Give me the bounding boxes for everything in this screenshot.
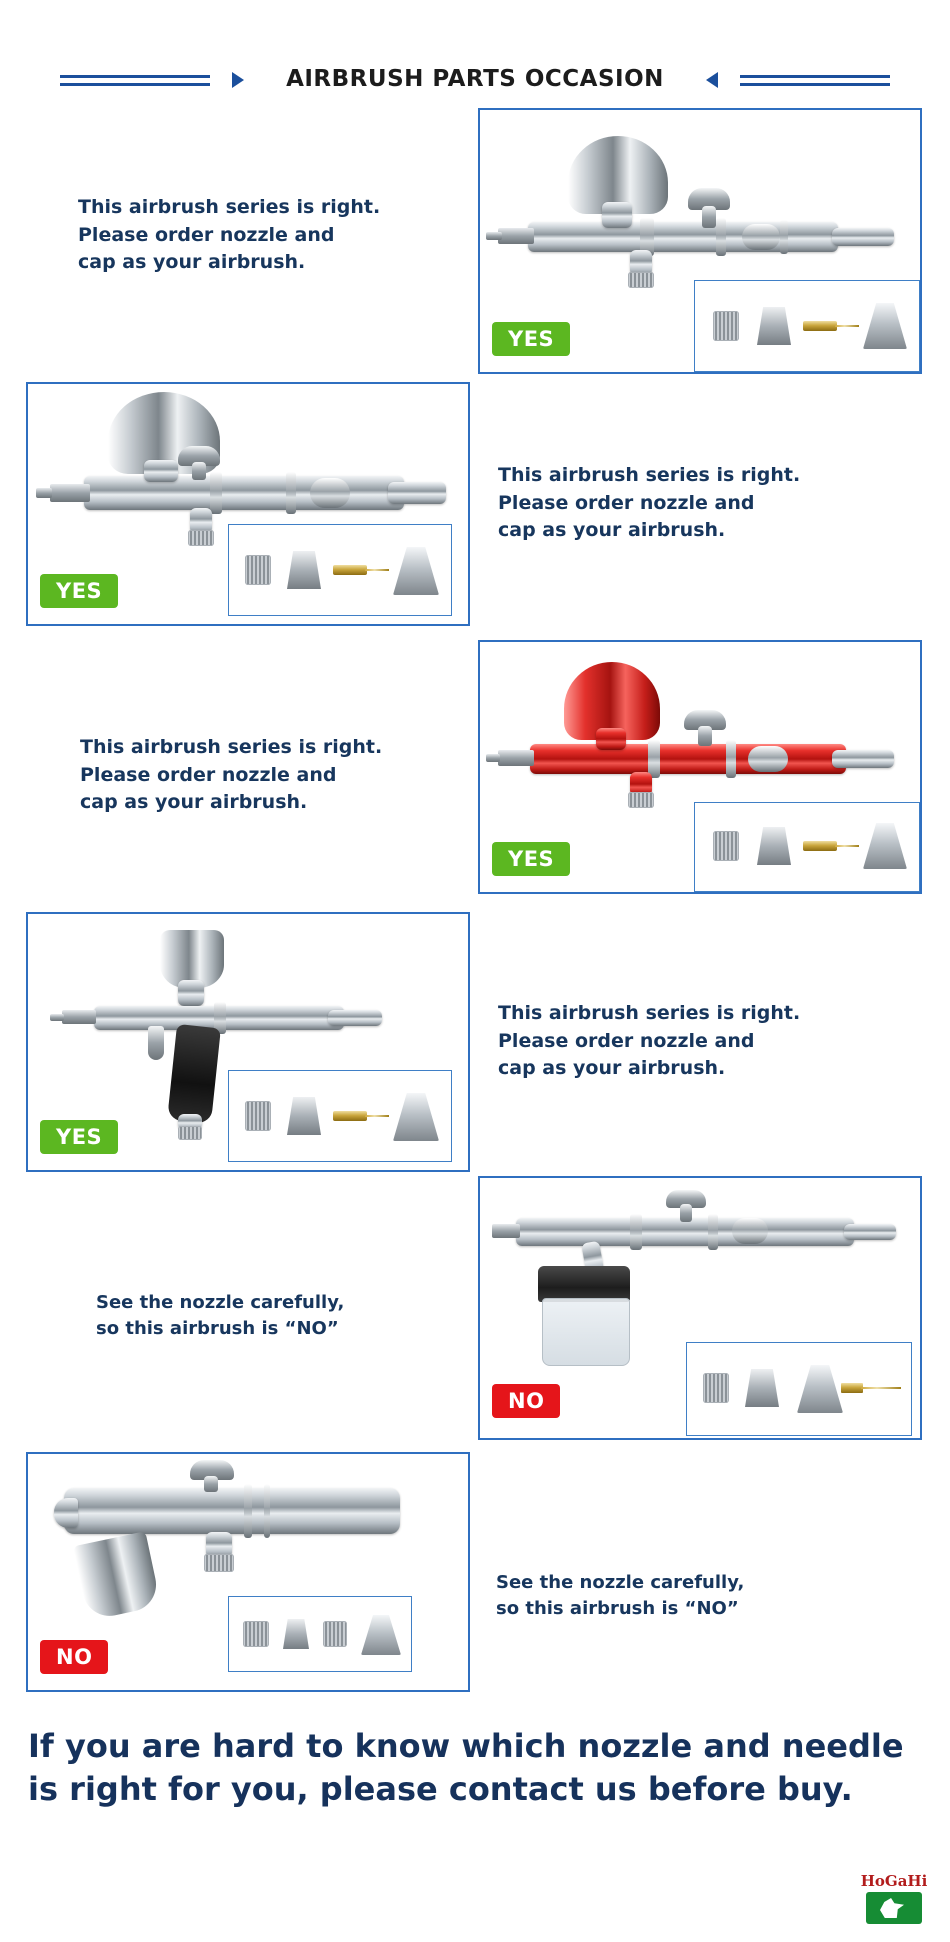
brand-logo: HoGaHi: [852, 1872, 936, 1934]
brand-logo-text: HoGaHi: [852, 1872, 936, 1890]
caption-row2: This airbrush series is right. Please or…: [498, 462, 838, 545]
badge-row6: NO: [40, 1640, 108, 1674]
page-header: AIRBRUSH PARTS OCCASION: [0, 30, 950, 90]
badge-row1: YES: [492, 322, 570, 356]
page-root: AIRBRUSH PARTS OCCASION This airbrush se…: [0, 0, 950, 1942]
badge-row3: YES: [492, 842, 570, 876]
caption-row3: This airbrush series is right. Please or…: [80, 734, 420, 817]
photo-panel-row6: NO: [26, 1452, 470, 1692]
badge-row2: YES: [40, 574, 118, 608]
brand-logo-mark-icon: [866, 1892, 922, 1924]
nozzle-parts-inset-row6: [228, 1596, 412, 1672]
footer-text: If you are hard to know which nozzle and…: [28, 1725, 922, 1811]
caption-row6: See the nozzle carefully, so this airbru…: [496, 1570, 836, 1622]
photo-panel-row5: NO: [478, 1176, 922, 1440]
photo-panel-row2: YES: [26, 382, 470, 626]
photo-panel-row3: YES: [478, 640, 922, 894]
nozzle-parts-inset-row1: [694, 280, 920, 372]
photo-panel-row4: YES: [26, 912, 470, 1172]
page-title: AIRBRUSH PARTS OCCASION: [0, 66, 950, 92]
caption-row5: See the nozzle carefully, so this airbru…: [96, 1290, 436, 1342]
nozzle-parts-inset-row4: [228, 1070, 452, 1162]
badge-row5: NO: [492, 1384, 560, 1418]
caption-row1: This airbrush series is right. Please or…: [78, 194, 408, 277]
caption-row4: This airbrush series is right. Please or…: [498, 1000, 838, 1083]
nozzle-parts-inset-row5: [686, 1342, 912, 1436]
nozzle-parts-inset-row2: [228, 524, 452, 616]
nozzle-parts-inset-row3: [694, 802, 920, 892]
photo-panel-row1: YES: [478, 108, 922, 374]
badge-row4: YES: [40, 1120, 118, 1154]
